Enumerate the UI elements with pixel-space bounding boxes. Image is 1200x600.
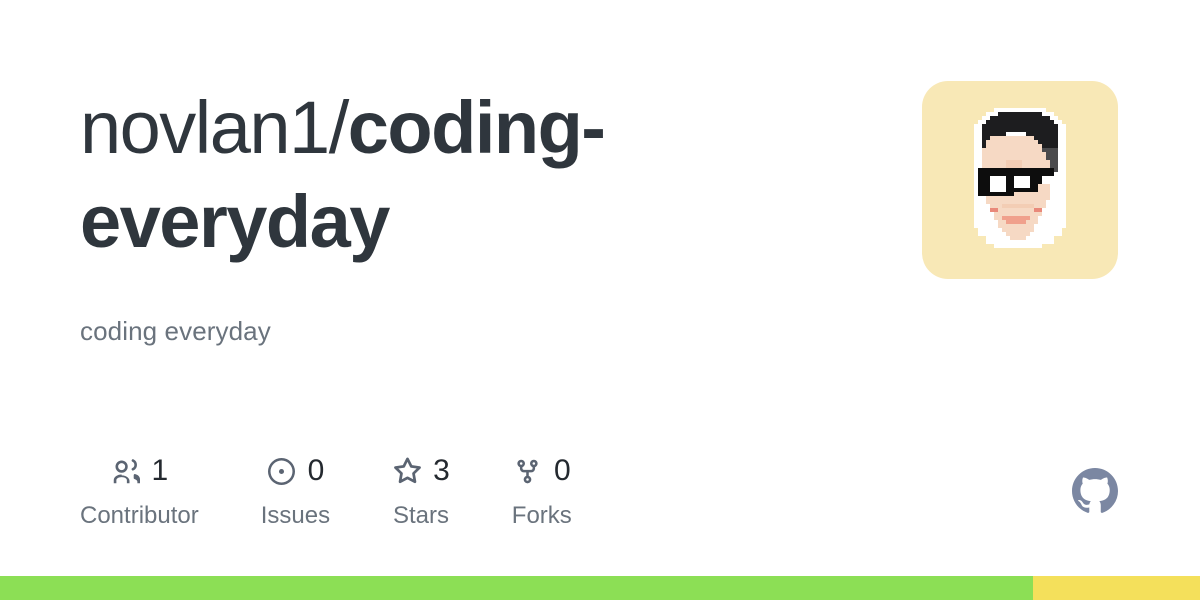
stat-label: Contributor <box>80 501 199 531</box>
avatar[interactable] <box>922 81 1118 279</box>
repo-social-preview-card: novlan1/coding-everyday <box>0 0 1200 600</box>
people-icon <box>111 456 141 486</box>
stat-contributors[interactable]: 1 Contributor <box>80 452 199 531</box>
stat-stars[interactable]: 3 Stars <box>392 452 450 531</box>
star-icon <box>392 456 422 486</box>
repo-separator: / <box>329 86 348 169</box>
stat-label: Issues <box>261 501 330 531</box>
stat-label: Stars <box>393 501 449 531</box>
repo-stats: 1 Contributor 0 Issues <box>80 452 572 531</box>
stat-label: Forks <box>512 501 572 531</box>
stat-forks[interactable]: 0 Forks <box>512 452 572 531</box>
stat-count: 3 <box>433 456 450 486</box>
repo-description: coding everyday <box>80 313 271 349</box>
stat-count: 0 <box>554 456 571 486</box>
pixel-art-face-avatar-icon <box>954 100 1086 260</box>
stat-top: 3 <box>392 452 450 490</box>
language-segment-secondary <box>1033 576 1200 600</box>
language-bar <box>0 576 1200 600</box>
repo-forked-icon <box>513 456 543 486</box>
stat-top: 1 <box>111 452 169 490</box>
stat-top: 0 <box>267 452 325 490</box>
stat-top: 0 <box>513 452 571 490</box>
repo-owner[interactable]: novlan1 <box>80 86 329 169</box>
page-title: novlan1/coding-everyday <box>80 81 720 269</box>
issue-opened-icon <box>267 456 297 486</box>
github-mark-icon <box>1072 468 1118 514</box>
card-header: novlan1/coding-everyday <box>80 81 1118 279</box>
stat-count: 1 <box>152 456 169 486</box>
stat-count: 0 <box>308 456 325 486</box>
language-segment-primary <box>0 576 1033 600</box>
stat-issues[interactable]: 0 Issues <box>261 452 330 531</box>
title-block: novlan1/coding-everyday <box>80 81 720 269</box>
